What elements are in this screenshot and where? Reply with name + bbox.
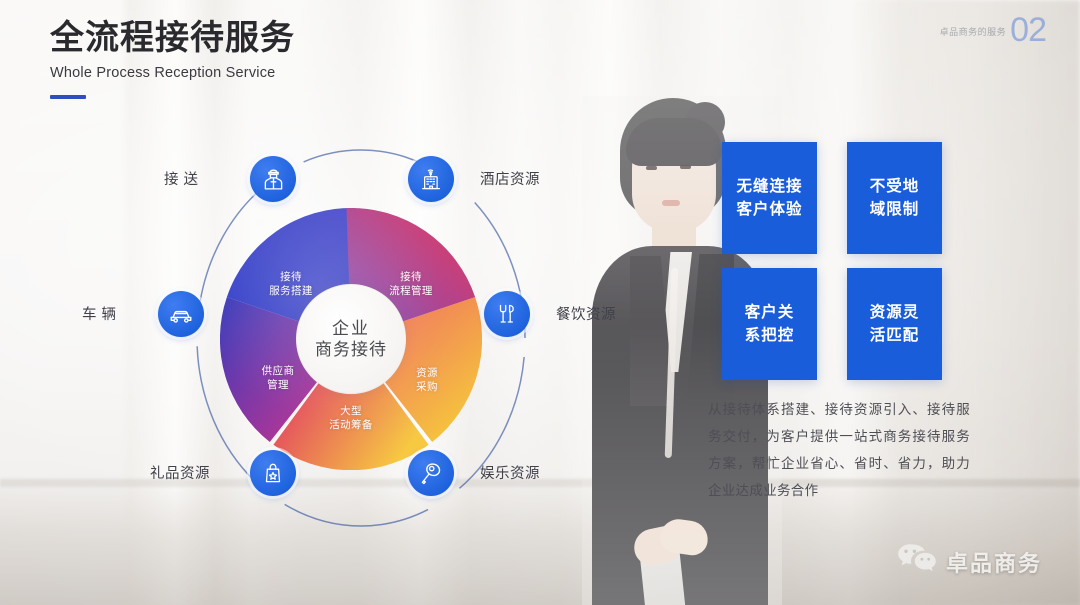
page-subtitle: Whole Process Reception Service [50,65,295,81]
wechat-brand-footer: 卓品商务 [897,542,1042,581]
card-line1: 客户关 [745,301,795,324]
wechat-logo-icon [897,542,937,581]
node-gift-resources[interactable] [250,450,296,496]
hub-label-line2: 商务接待 [315,339,387,360]
slide-canvas: 全流程接待服务 Whole Process Reception Service … [0,0,1080,605]
gift-bag-icon [261,461,285,485]
donut-chart: 企业 商务接待 接待 服务搭建 接待 流程管理 资源 采购 大型 活动筹备 供应… [220,208,482,470]
page-title: 全流程接待服务 [50,20,295,57]
table-tennis-paddle-icon [419,461,444,486]
card-line2: 活匹配 [870,324,920,347]
card-line2: 系把控 [745,324,795,347]
description-paragraph: 从接待体系搭建、接待资源引入、接待服务交付，为客户提供一站式商务接待服务方案，帮… [708,396,970,504]
page-number: 02 [1010,16,1046,45]
card-flexible-resource-matching[interactable]: 资源灵 活匹配 [847,268,942,380]
node-label-gift-resources: 礼品资源 [150,462,210,483]
card-seamless-customer-experience[interactable]: 无缝连接 客户体验 [722,142,817,254]
node-label-pickup-dropoff: 接 送 [164,168,199,189]
card-line2: 客户体验 [736,198,802,221]
card-no-geographic-limits[interactable]: 不受地 域限制 [847,142,942,254]
benefit-cards: 无缝连接 客户体验 不受地 域限制 客户关 系把控 资源灵 活匹配 [722,142,942,380]
card-line1: 资源灵 [870,301,920,324]
card-line1: 不受地 [870,175,920,198]
concierge-icon [261,167,286,192]
node-label-hotel-resources: 酒店资源 [480,168,540,189]
slide-header: 全流程接待服务 Whole Process Reception Service [50,20,295,99]
hotel-building-icon [419,167,444,192]
page-marker: 卓品商务的服务 02 [940,16,1046,45]
dining-utensils-icon [495,302,519,326]
reception-wheel-diagram: 企业 商务接待 接待 服务搭建 接待 流程管理 资源 采购 大型 活动筹备 供应… [150,128,570,548]
node-pickup-dropoff[interactable] [250,156,296,202]
title-underline-rule [50,95,86,99]
card-line2: 域限制 [870,198,920,221]
page-marker-label: 卓品商务的服务 [940,25,1007,45]
card-customer-relationship-control[interactable]: 客户关 系把控 [722,268,817,380]
node-label-vehicle-resources: 车 辆 [82,303,117,324]
diagram-hub: 企业 商务接待 [297,285,405,393]
node-hotel-resources[interactable] [408,156,454,202]
hub-label-line1: 企业 [332,318,370,339]
node-vehicle-resources[interactable] [158,291,204,337]
brand-name: 卓品商务 [946,546,1042,578]
node-dining-resources[interactable] [484,291,530,337]
node-entertainment-resources[interactable] [408,450,454,496]
node-label-dining-resources: 餐饮资源 [556,303,616,324]
card-line1: 无缝连接 [736,175,802,198]
car-icon [168,301,194,327]
node-label-entertainment-resources: 娱乐资源 [480,462,540,483]
